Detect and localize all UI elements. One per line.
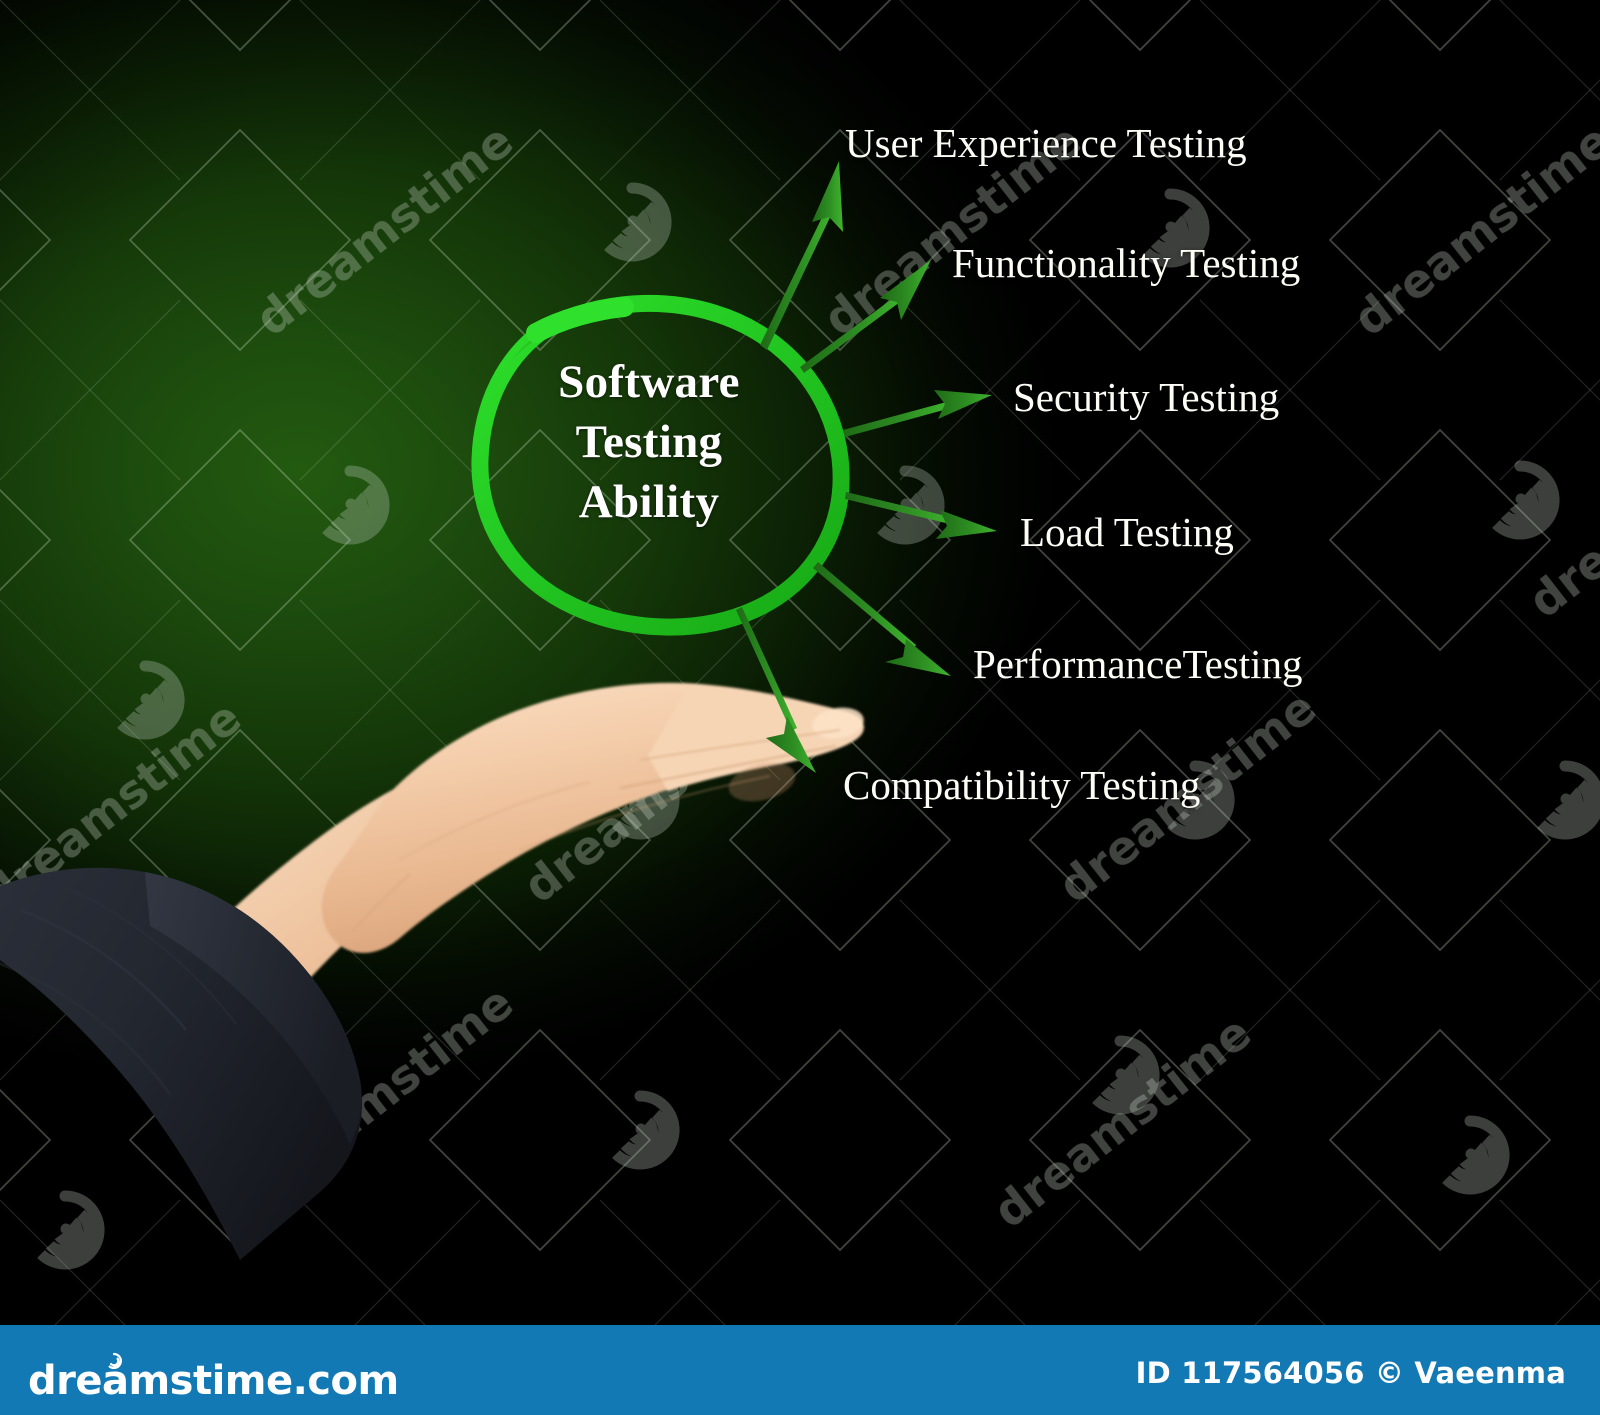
branch-label-security-testing: Security Testing bbox=[1013, 377, 1279, 418]
branch-label-user-experience-testing: User Experience Testing bbox=[845, 123, 1247, 164]
branch-label-compatibility-testing: Compatibility Testing bbox=[843, 765, 1200, 806]
footer-bar: dreamstime.com ID 117564056 © Vaeenma bbox=[0, 1325, 1600, 1415]
branch-label-performance-testing: PerformanceTesting bbox=[973, 644, 1303, 685]
footer-brand-text: dreamstime.com bbox=[28, 1361, 399, 1401]
arrow-compatibility bbox=[736, 607, 816, 773]
branch-label-functionality-testing: Functionality Testing bbox=[952, 243, 1300, 284]
footer-credit: ID 117564056 © Vaeenma bbox=[1136, 1356, 1566, 1390]
arrow-user-experience bbox=[760, 161, 843, 350]
center-line-1: Software bbox=[478, 352, 820, 412]
center-line-2: Testing bbox=[478, 412, 820, 472]
footer-brand-logo[interactable]: dreamstime.com bbox=[28, 1347, 224, 1395]
center-node-label: Software Testing Ability bbox=[478, 352, 820, 532]
arrow-performance bbox=[813, 562, 951, 676]
center-line-3: Ability bbox=[478, 472, 820, 532]
diagram-graphics bbox=[0, 0, 1600, 1325]
arrow-security bbox=[843, 390, 992, 437]
screenshot-root: dreamstime dreamstime dreamstime dreamst… bbox=[0, 0, 1600, 1415]
branch-label-load-testing: Load Testing bbox=[1020, 512, 1234, 553]
arrow-load bbox=[845, 492, 997, 539]
